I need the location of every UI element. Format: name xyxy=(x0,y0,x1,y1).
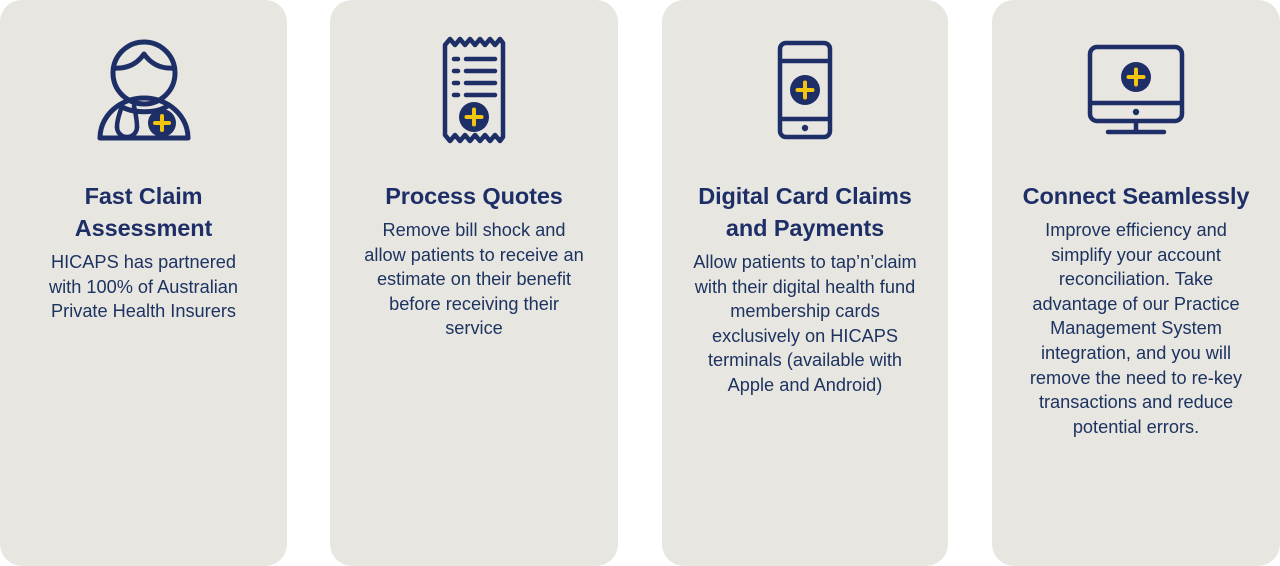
desktop-monitor-icon xyxy=(1086,0,1186,180)
card-body: Remove bill shock and allow patients to … xyxy=(360,218,588,341)
receipt-icon xyxy=(438,0,510,180)
mobile-phone-icon xyxy=(774,0,836,180)
feature-card-digital-card-claims: Digital Card Claims and Payments Allow p… xyxy=(662,0,948,566)
feature-card-row: Fast Claim Assessment HICAPS has partner… xyxy=(0,0,1280,552)
card-body: HICAPS has partnered with 100% of Austra… xyxy=(41,250,246,324)
card-title: Connect Seamlessly xyxy=(1006,180,1266,212)
practitioner-icon xyxy=(89,0,199,180)
card-body: Allow patients to tap’n’claim with their… xyxy=(689,250,921,398)
card-title: Process Quotes xyxy=(349,180,599,212)
card-body: Improve efficiency and simplify your acc… xyxy=(1025,218,1247,439)
card-title: Fast Claim Assessment xyxy=(29,180,259,244)
feature-card-process-quotes: Process Quotes Remove bill shock and all… xyxy=(330,0,618,566)
feature-card-connect-seamlessly: Connect Seamlessly Improve efficiency an… xyxy=(992,0,1280,566)
card-title: Digital Card Claims and Payments xyxy=(685,180,925,244)
feature-card-fast-claim-assessment: Fast Claim Assessment HICAPS has partner… xyxy=(0,0,287,566)
